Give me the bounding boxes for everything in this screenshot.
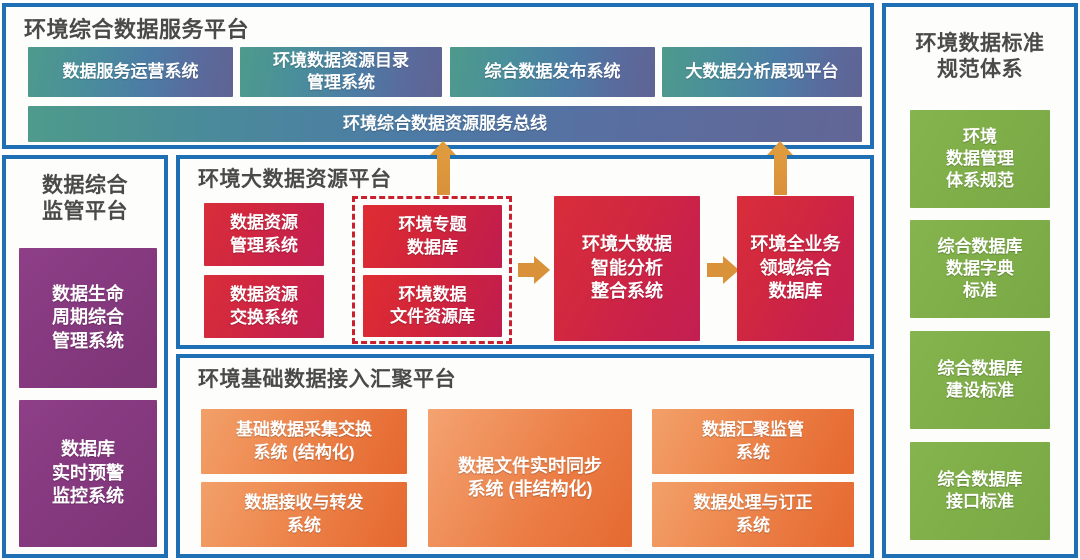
service-platform-title: 环境综合数据服务平台 [24,16,249,44]
standard-box-1[interactable]: 环境 数据管理 体系规范 [910,110,1050,208]
architecture-diagram: 环境综合数据服务平台 数据服务运营系统 环境数据资源目录 管理系统 综合数据发布… [0,0,1080,560]
bigdata-analysis-system[interactable]: 环境大数据 智能分析 整合系统 [554,196,700,341]
access-center-system[interactable]: 数据文件实时同步 系统 (非结构化) [428,409,632,547]
supervision-platform-title: 数据综合 监管平台 [6,173,164,226]
bigdata-platform-title: 环境大数据资源平台 [198,167,392,193]
access-left-system-1[interactable]: 基础数据采集交换 系统 (结构化) [201,409,407,474]
service-bus-bar[interactable]: 环境综合数据资源服务总线 [28,106,862,142]
supervision-system-box-2[interactable]: 数据库 实时预警 监控系统 [19,400,157,547]
standard-box-3[interactable]: 综合数据库 建设标准 [910,331,1050,429]
bigdata-left-system-1[interactable]: 数据资源 管理系统 [204,203,324,266]
standard-box-4[interactable]: 综合数据库 接口标准 [910,442,1050,540]
service-system-box-4[interactable]: 大数据分析展现平台 [662,47,862,97]
bigdata-database-box-1[interactable]: 环境专题 数据库 [363,205,502,268]
bigdata-database-box-2[interactable]: 环境数据 文件资源库 [363,275,502,337]
service-system-box-1[interactable]: 数据服务运营系统 [28,47,233,97]
service-system-box-3[interactable]: 综合数据发布系统 [450,47,655,97]
service-system-box-2[interactable]: 环境数据资源目录 管理系统 [240,47,442,97]
standard-box-2[interactable]: 综合数据库 数据字典 标准 [910,220,1050,318]
bigdata-left-system-2[interactable]: 数据资源 交换系统 [204,275,324,338]
access-left-system-2[interactable]: 数据接收与转发 系统 [201,482,407,547]
supervision-system-box-1[interactable]: 数据生命 周期综合 管理系统 [19,248,157,388]
standards-panel-title: 环境数据标准 规范体系 [886,31,1074,84]
access-right-system-2[interactable]: 数据处理与订正 系统 [652,482,854,547]
access-right-system-1[interactable]: 数据汇聚监管 系统 [652,409,854,474]
access-platform-title: 环境基础数据接入汇聚平台 [198,367,456,393]
bigdata-comprehensive-db[interactable]: 环境全业务 领域综合 数据库 [737,196,854,341]
